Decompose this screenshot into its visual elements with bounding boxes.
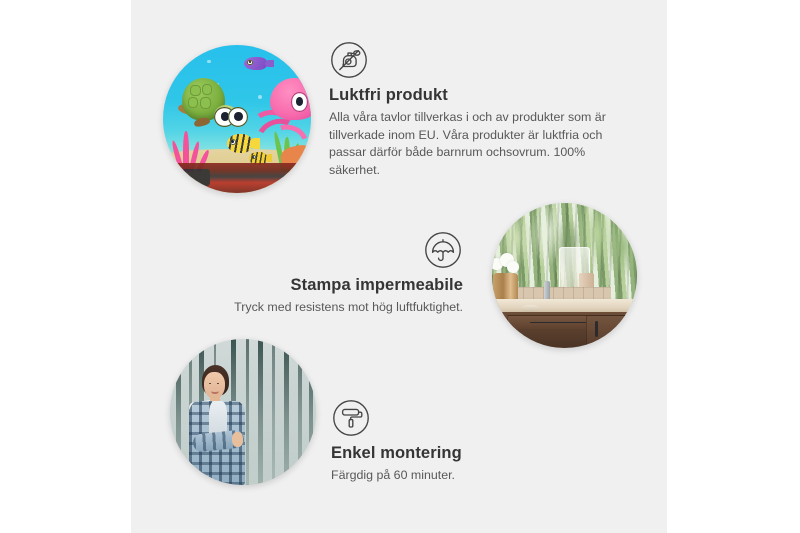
product-image-woman-paint-roller-forest: [170, 339, 316, 485]
underwater-scene: [163, 45, 311, 193]
soap-dish: [521, 305, 540, 312]
feature-title: Luktfri produkt: [329, 86, 629, 105]
feature-description: Tryck med resistens mot hög luftfuktighe…: [218, 299, 463, 317]
bathroom-scene: [492, 203, 637, 348]
woman-figure: [182, 365, 273, 485]
feature-description: Alla våra tavlor tillverkas i och av pro…: [329, 109, 629, 179]
forest-wallpaper-scene: [170, 339, 316, 485]
room-photo-strip: [175, 163, 302, 193]
yellow-fish-icon: [227, 134, 252, 153]
product-image-underwater-kids-mural: [163, 45, 311, 193]
feature-odor-free: Luktfri produkt Alla våra tavlor tillver…: [329, 40, 629, 179]
purple-fish-icon: [244, 57, 266, 70]
product-image-bathroom-botanical-wallpaper: [492, 203, 637, 348]
paint-roller-icon: [331, 398, 371, 438]
turtle-icon: [176, 75, 244, 134]
vanity-cabinet: [501, 312, 637, 348]
feature-panel-screenshot: Luktfri produkt Alla våra tavlor tillver…: [0, 0, 800, 533]
feature-easy-mounting: Enkel montering Färgdig på 60 minuter.: [331, 398, 561, 485]
feature-description: Färgdig på 60 minuter.: [331, 467, 561, 485]
bubble-icon: [207, 60, 211, 64]
feature-title: Enkel montering: [331, 444, 561, 463]
feature-title: Stampa impermeabile: [218, 276, 463, 295]
umbrella-icon: [423, 230, 463, 270]
no-perfume-spray-icon: [329, 40, 369, 80]
feature-waterproof-print: Stampa impermeabile Tryck med resistens …: [218, 230, 463, 317]
